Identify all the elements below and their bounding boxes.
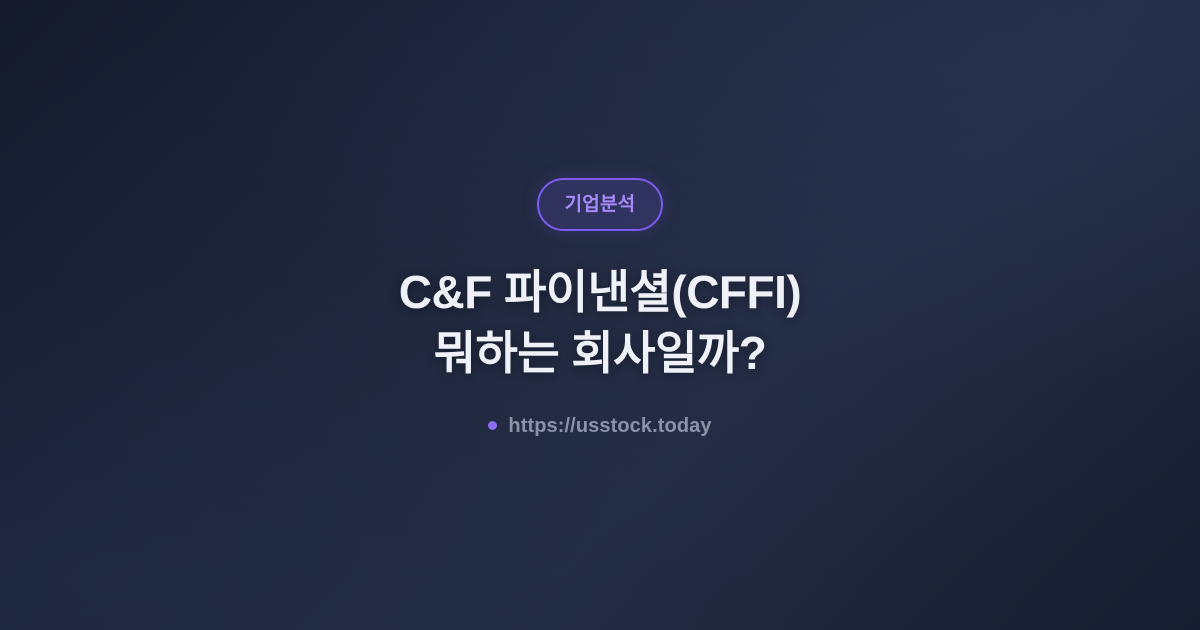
- og-share-card: 기업분석 C&F 파이낸셜(CFFI) 뭐하는 회사일까? https://us…: [0, 0, 1200, 630]
- category-badge: 기업분석: [537, 178, 664, 231]
- page-title-line-1: C&F 파이낸셜(CFFI): [399, 262, 801, 323]
- site-url: https://usstock.today: [488, 416, 711, 436]
- page-title-line-2: 뭐하는 회사일까?: [434, 323, 767, 384]
- card-content: 기업분석 C&F 파이낸셜(CFFI) 뭐하는 회사일까? https://us…: [0, 178, 1200, 435]
- page-title: C&F 파이낸셜(CFFI) 뭐하는 회사일까?: [399, 262, 801, 383]
- site-url-text: https://usstock.today: [508, 416, 711, 436]
- bullet-dot-icon: [488, 421, 497, 430]
- category-badge-label: 기업분석: [565, 195, 636, 214]
